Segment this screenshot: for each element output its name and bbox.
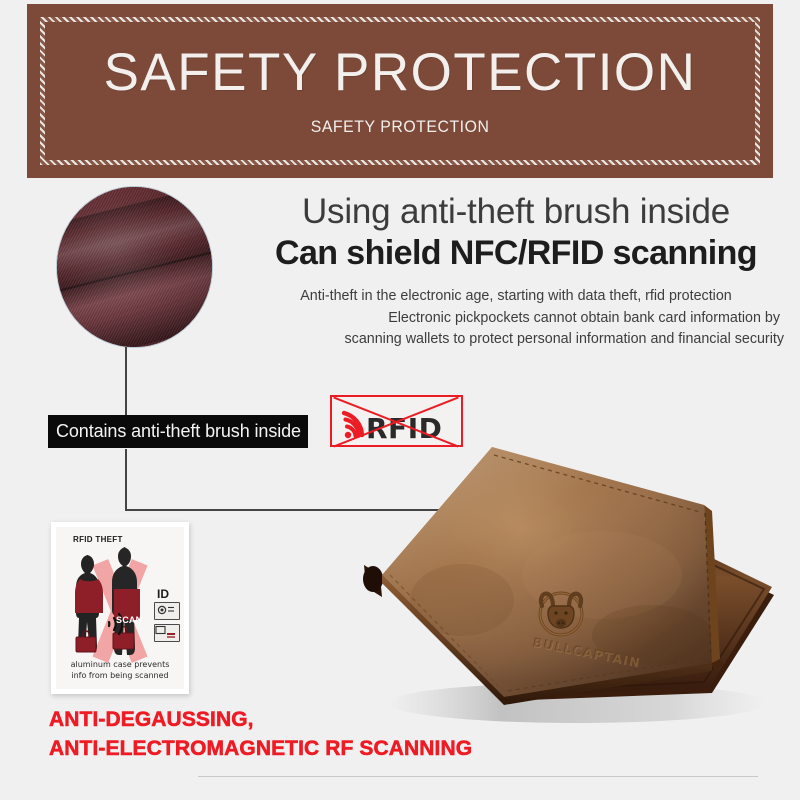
anti-theft-brush-label: Contains anti-theft brush inside [48, 415, 308, 448]
fabric-vignette [57, 187, 212, 347]
rfid-theft-card-title: RFID THEFT [73, 535, 123, 544]
man-silhouette-icon [108, 545, 146, 665]
bottom-callout-line-2: ANTI-ELECTROMAGNETIC RF SCANNING [49, 735, 472, 764]
rfid-theft-card-inner: RFID THEFT [56, 527, 184, 689]
fabric-detail-circle [57, 187, 212, 347]
woman-silhouette-icon [72, 553, 106, 663]
headline-secondary: Can shield NFC/RFID scanning [248, 233, 784, 274]
wallet-product-image: BULLCAPTAIN BULLCAPTAIN [352, 415, 800, 735]
banner-face: SAFETY PROTECTION SAFETY PROTECTION [45, 22, 755, 160]
scan-label: SCAN [116, 615, 142, 625]
rfid-theft-card: RFID THEFT [51, 522, 189, 694]
leader-line-vertical-top [125, 347, 127, 415]
banner-title: SAFETY PROTECTION [104, 46, 697, 99]
header-banner: SAFETY PROTECTION SAFETY PROTECTION [27, 4, 773, 178]
bottom-callout-text: ANTI-DEGAUSSING, ANTI-ELECTROMAGNETIC RF… [49, 706, 472, 764]
headline-primary: Using anti-theft brush inside [248, 192, 784, 232]
anti-theft-brush-label-text: Contains anti-theft brush inside [56, 421, 301, 442]
bottom-callout-line-1: ANTI-DEGAUSSING, [49, 706, 472, 735]
leader-line-vertical-bottom [125, 449, 127, 510]
description-line-3: scanning wallets to protect personal inf… [248, 329, 784, 351]
id-document-icon-2 [154, 624, 180, 642]
infographic-page: SAFETY PROTECTION SAFETY PROTECTION Usin… [0, 0, 800, 800]
description-line-2: Electronic pickpockets cannot obtain ban… [248, 308, 784, 330]
id-label: ID [157, 587, 169, 601]
headline-block: Using anti-theft brush inside Can shield… [248, 192, 784, 351]
id-document-icon-1 [154, 602, 180, 620]
banner-hatched-frame: SAFETY PROTECTION SAFETY PROTECTION [40, 17, 760, 165]
rfid-theft-card-footer: aluminum case prevents info from being s… [56, 660, 184, 682]
banner-subtitle: SAFETY PROTECTION [311, 117, 490, 137]
rfid-theft-footer-line-2: info from being scanned [56, 671, 184, 682]
rfid-theft-footer-line-1: aluminum case prevents [56, 660, 184, 671]
description-paragraph: Anti-theft in the electronic age, starti… [248, 286, 784, 351]
bottom-divider [198, 776, 758, 777]
description-line-1: Anti-theft in the electronic age, starti… [248, 286, 784, 308]
